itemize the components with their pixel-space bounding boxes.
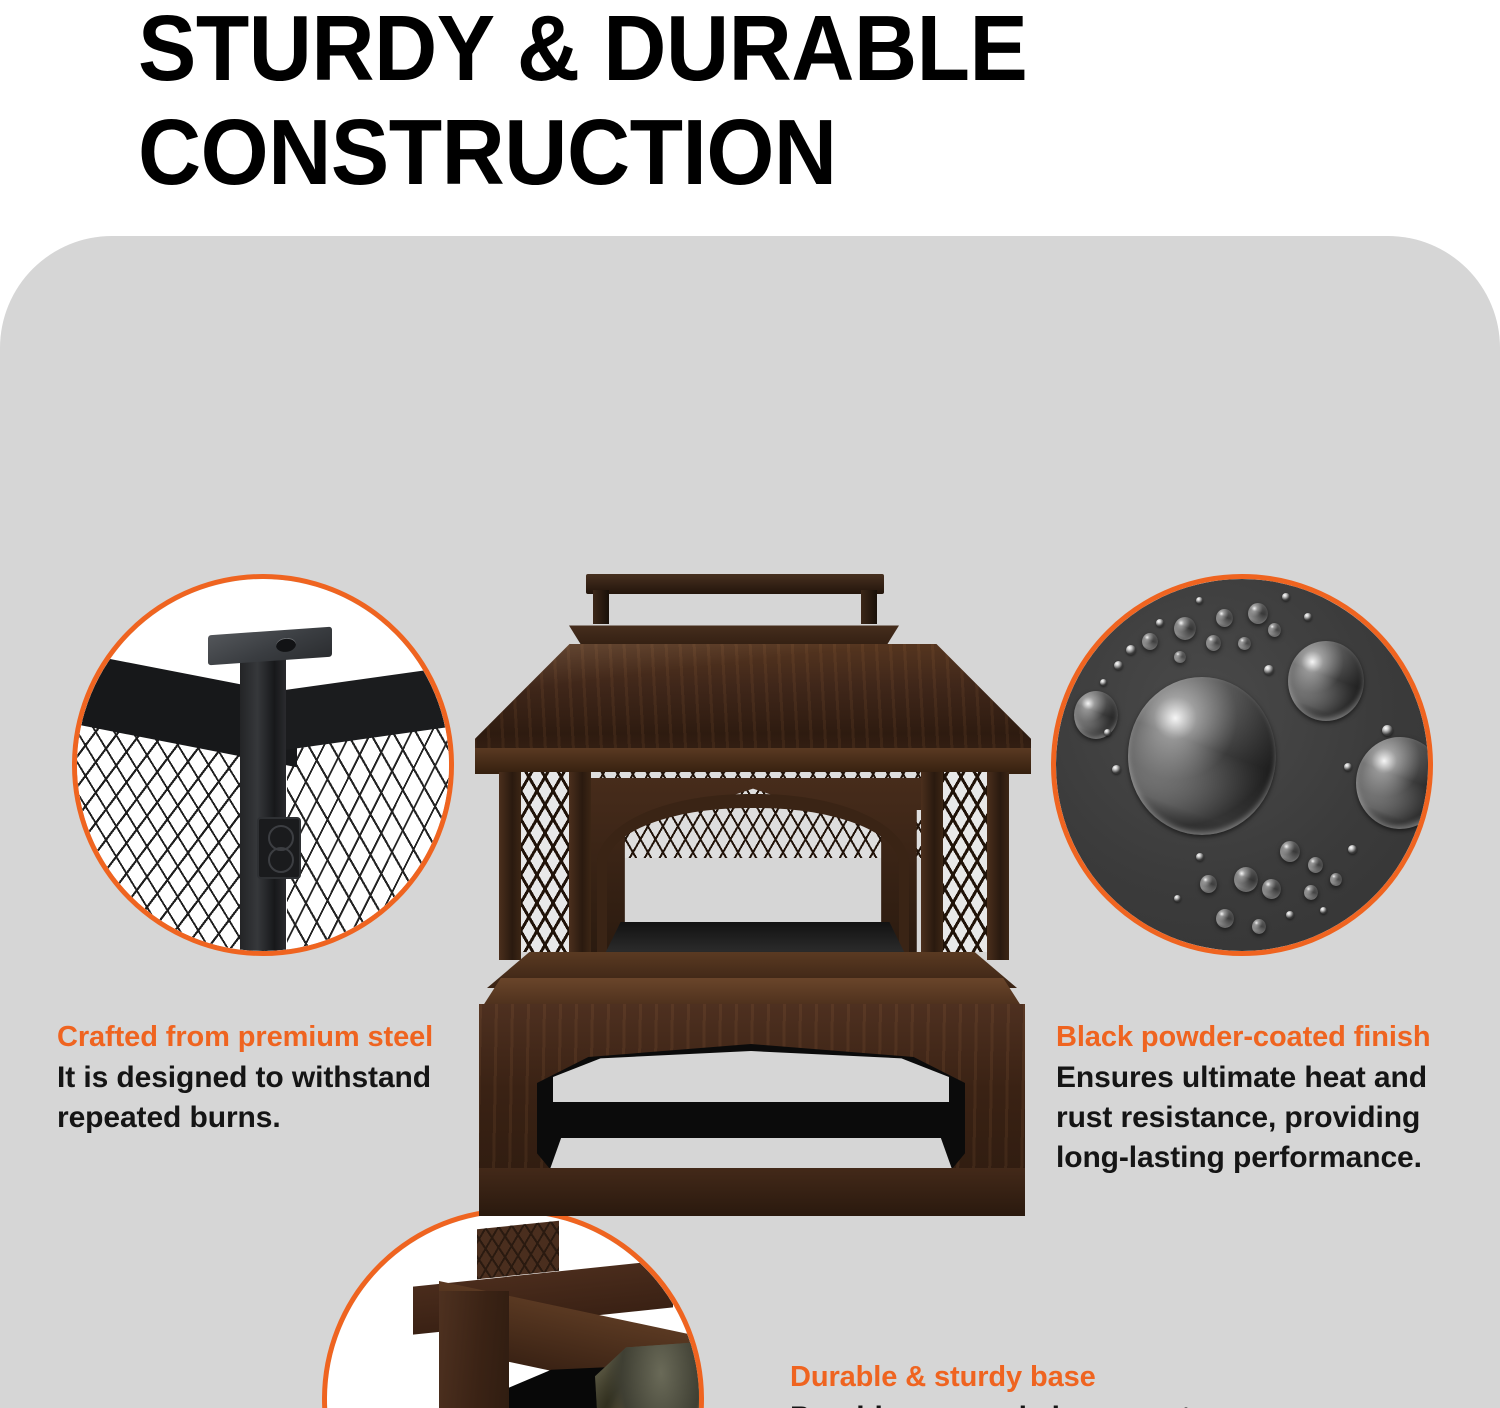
water-droplet-tiny	[1282, 593, 1290, 601]
callout-text-steel: Crafted from premium steel It is designe…	[57, 1018, 477, 1138]
roof-edge	[475, 748, 1031, 774]
callout-image-steel	[72, 574, 454, 956]
corner-post-outer-left	[499, 772, 521, 960]
base-foot	[479, 1168, 1025, 1216]
water-droplet-tiny	[1344, 763, 1352, 771]
water-droplet-small	[1252, 919, 1266, 934]
infographic-page: STURDY & DURABLE CONSTRUCTION	[0, 0, 1500, 1408]
steel-image-clip	[77, 579, 449, 951]
corner-post-outer-right	[987, 772, 1009, 960]
water-droplet-tiny	[1264, 665, 1274, 675]
water-droplet-tiny	[1286, 911, 1294, 919]
mesh-panel-left	[515, 772, 575, 952]
powder-coated-surface-photo	[1056, 579, 1428, 951]
base-box-side	[439, 1291, 509, 1408]
callout-image-finish	[1051, 574, 1433, 956]
water-droplet-tiny	[1126, 645, 1136, 655]
water-droplet-tiny	[1114, 661, 1123, 670]
callout-title-finish: Black powder-coated finish	[1056, 1018, 1476, 1056]
header: STURDY & DURABLE CONSTRUCTION	[138, 0, 1398, 204]
callout-body-finish: Ensures ultimate heat and rust resistanc…	[1056, 1058, 1476, 1178]
callout-title-base: Durable & sturdy base	[790, 1358, 1220, 1396]
water-droplet-small	[1174, 617, 1196, 640]
mounting-plate	[208, 627, 332, 666]
water-droplet-small	[1268, 623, 1281, 637]
chimney-vent-cap	[586, 574, 884, 594]
water-droplet-small	[1234, 867, 1258, 892]
water-droplet-medium	[1074, 691, 1118, 739]
callout-image-base	[322, 1208, 704, 1408]
water-droplet-tiny	[1174, 895, 1181, 902]
post-bracket	[257, 817, 301, 879]
water-droplet-tiny	[1196, 597, 1203, 604]
water-droplet-small	[1174, 651, 1186, 663]
water-droplet-small	[1142, 633, 1158, 650]
water-droplet-large	[1128, 677, 1276, 835]
chimney-vent-leg-right	[861, 590, 877, 624]
water-droplet-tiny	[1320, 907, 1327, 914]
water-droplet-small	[1262, 879, 1281, 899]
content-panel: Crafted from premium steel It is designe…	[0, 236, 1500, 1408]
water-droplet-medium	[1288, 641, 1364, 721]
corner-post-inner-right	[921, 772, 943, 960]
base-arch-backlight	[553, 1050, 949, 1102]
base-mesh-panel	[477, 1221, 559, 1280]
page-title: STURDY & DURABLE CONSTRUCTION	[138, 0, 1322, 204]
water-droplet-small	[1248, 603, 1268, 624]
droplets-image-clip	[1056, 579, 1428, 951]
water-droplet-medium	[1356, 737, 1428, 829]
callout-text-finish: Black powder-coated finish Ensures ultim…	[1056, 1018, 1476, 1178]
chimney-vent-leg-left	[593, 590, 609, 624]
water-droplet-small	[1238, 637, 1251, 650]
water-droplet-small	[1216, 909, 1234, 928]
base-clearance-photo	[327, 1213, 699, 1408]
bolt-hole	[276, 637, 296, 652]
base-image-clip	[327, 1213, 699, 1408]
water-droplet-tiny	[1112, 765, 1121, 774]
water-droplet-tiny	[1100, 679, 1107, 686]
mesh-panel-right	[287, 718, 449, 951]
water-droplet-small	[1304, 885, 1318, 900]
callout-title-steel: Crafted from premium steel	[57, 1018, 477, 1056]
callout-body-base: Provides ground clearance to ensure the …	[790, 1398, 1220, 1408]
product-image-fire-pit	[465, 566, 1040, 1186]
water-droplet-tiny	[1382, 725, 1393, 736]
water-droplet-small	[1308, 857, 1323, 873]
water-droplet-small	[1206, 635, 1221, 651]
base-arch-floor-light	[549, 1138, 953, 1172]
water-droplet-small	[1216, 609, 1233, 627]
corner-post	[240, 649, 286, 951]
water-droplet-small	[1200, 875, 1217, 893]
water-droplet-tiny	[1196, 853, 1204, 861]
water-droplet-tiny	[1348, 845, 1357, 854]
water-droplet-tiny	[1104, 729, 1111, 736]
water-droplet-small	[1280, 841, 1300, 862]
callout-text-base: Durable & sturdy base Provides ground cl…	[790, 1358, 1220, 1408]
corner-post-inner-left	[569, 772, 591, 960]
water-droplet-tiny	[1156, 619, 1164, 627]
callout-body-steel: It is designed to withstand repeated bur…	[57, 1058, 477, 1138]
steel-mesh-post-photo	[77, 579, 449, 951]
water-droplet-small	[1330, 873, 1342, 886]
water-droplet-tiny	[1304, 613, 1312, 621]
